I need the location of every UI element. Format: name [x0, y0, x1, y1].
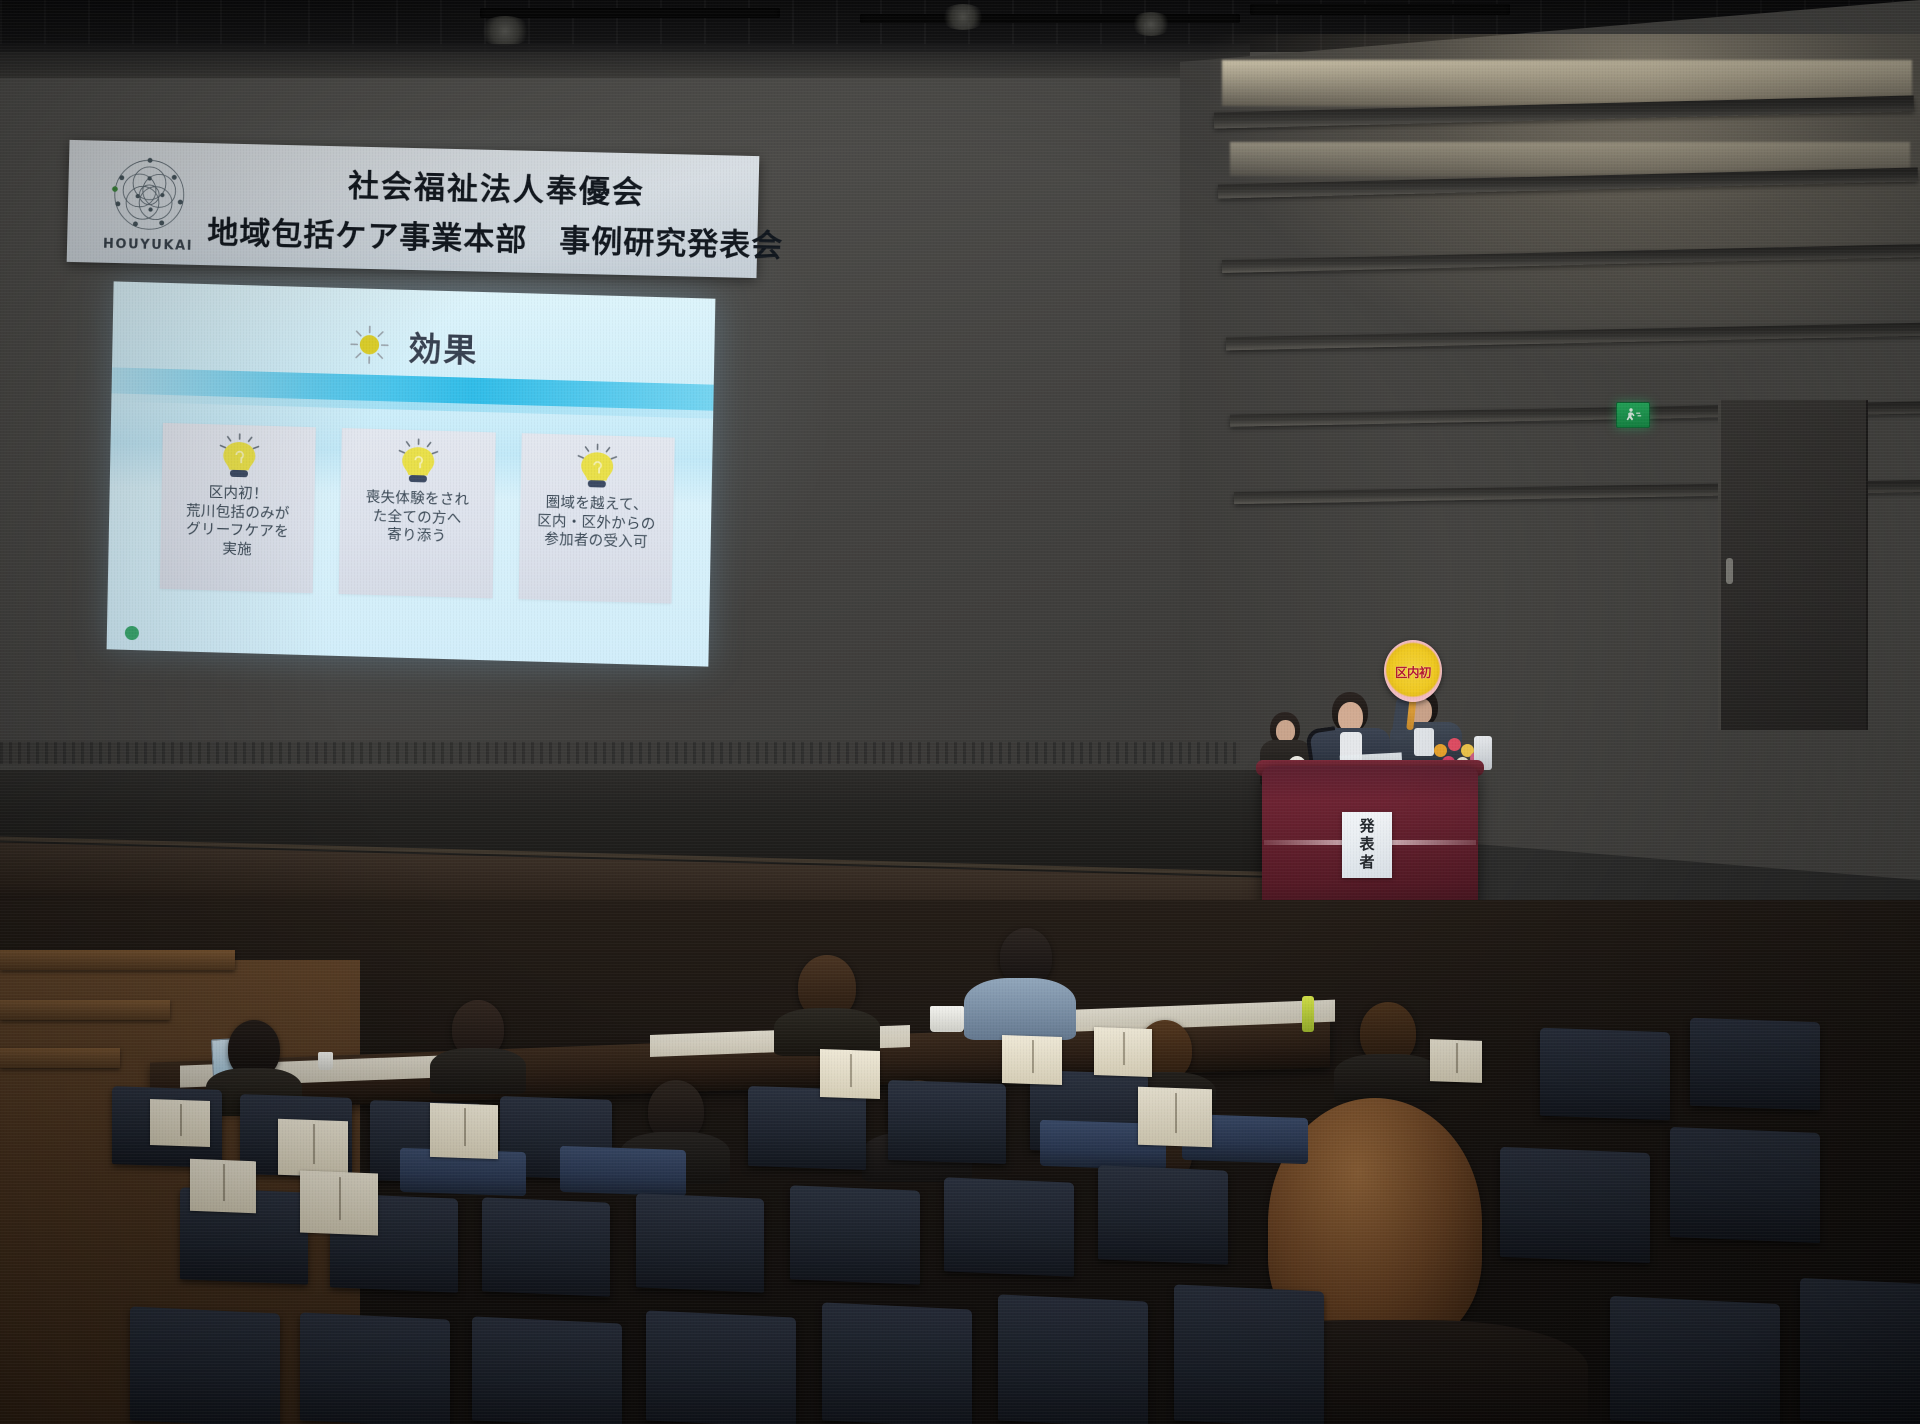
podium-sign: 発表者 [1342, 812, 1392, 878]
attendee-shoulder-4 [964, 978, 1076, 1040]
nameplate-5 [820, 1049, 880, 1099]
seat-row-b-5 [790, 1185, 920, 1284]
slide-card-3: 圏域を越えて、 区内・区外からの 参加者の受入可 [518, 433, 674, 603]
back-wall-upper-band [0, 44, 1250, 78]
seat-right-block-2 [1670, 1127, 1820, 1243]
door-handle[interactable] [1726, 558, 1733, 584]
lightbulb-icon [574, 443, 621, 494]
seat-row-a-9 [1690, 1018, 1820, 1111]
flower-2 [1448, 738, 1461, 751]
fan-sign: 区内初 [1384, 640, 1442, 702]
nameplate-3 [430, 1103, 498, 1159]
stage-wall-vent [0, 742, 1240, 764]
ceiling-light-2 [940, 4, 986, 30]
ceiling-light-1 [478, 16, 532, 46]
banner-text: 社会福祉法人奉優会 地域包括ケア事業本部 事例研究発表会 [207, 157, 795, 266]
drink-bottle-1 [1302, 996, 1314, 1032]
slide-cards: 区内初！ 荒川包括のみが グリーフケアを 実施 [160, 423, 675, 604]
ceiling-slot-1 [480, 8, 780, 18]
slide-corner-marker [125, 626, 139, 640]
podium-sign-label: 発表者 [1357, 818, 1378, 872]
seat-row-a-5 [748, 1086, 866, 1170]
lightbulb-icon [395, 438, 442, 489]
nameplate-2 [300, 1171, 378, 1236]
slide-title-row: 効果 [112, 313, 715, 378]
slide-card-1: 区内初！ 荒川包括のみが グリーフケアを 実施 [160, 423, 316, 593]
seat-row-a-8 [1540, 1028, 1670, 1121]
nameplate-6 [1002, 1035, 1062, 1085]
lightbulb-icon [215, 432, 262, 483]
nameplate-4 [1138, 1087, 1212, 1148]
fan-label: 区内初 [1395, 662, 1431, 681]
slide-card-1-text: 区内初！ 荒川包括のみが グリーフケアを 実施 [185, 484, 290, 561]
stage-step-2 [0, 1000, 170, 1020]
nameplate-7 [1094, 1027, 1152, 1077]
flower-1 [1434, 744, 1447, 757]
attendee-shoulder-2 [430, 1048, 526, 1094]
seat-row-c-3 [472, 1316, 622, 1424]
ceiling-slot-3 [1250, 4, 1510, 15]
seat-row-c-7 [1174, 1284, 1324, 1424]
ceiling-light-3 [1130, 12, 1172, 36]
network-nodes-logo-icon [107, 152, 191, 236]
auditorium-scene: HOUYUKAI 社会福祉法人奉優会 地域包括ケア事業本部 事例研究発表会 [0, 0, 1920, 1424]
seat-right-block-3 [1610, 1296, 1780, 1424]
seat-right-block-1 [1500, 1147, 1650, 1263]
stage-step-3 [0, 1048, 120, 1068]
nameplate-1 [278, 1119, 348, 1177]
podium-group: 区内初 発表者 [1248, 640, 1498, 930]
attendee-shoulder-6 [1334, 1054, 1440, 1102]
ceiling-slot-2 [860, 14, 1240, 23]
nameplate-9 [190, 1159, 256, 1214]
person-left-face [1276, 720, 1295, 742]
exit-sign [1616, 402, 1650, 428]
seat-row-c-5 [822, 1302, 972, 1424]
seat-row-a-6 [888, 1080, 1006, 1164]
seat-row-b-4 [636, 1193, 764, 1292]
running-man-exit-icon [1622, 407, 1644, 423]
projection-screen: 効果 区 [107, 281, 716, 666]
seat-row-b-3 [482, 1197, 610, 1296]
logo-wordmark: HOUYUKAI [103, 236, 194, 253]
event-banner: HOUYUKAI 社会福祉法人奉優会 地域包括ケア事業本部 事例研究発表会 [67, 140, 760, 278]
banner-logo: HOUYUKAI [89, 152, 209, 254]
drink-cup-2 [930, 1006, 964, 1032]
seat-cushion-a-2 [560, 1146, 686, 1196]
sun-icon [348, 323, 391, 366]
slide-card-2: 喪失体験をされ た全ての方へ 寄り添う [339, 428, 495, 598]
seat-right-block-4 [1800, 1278, 1920, 1424]
slide-card-2-text: 喪失体験をされ た全ての方へ 寄り添う [365, 489, 470, 548]
nameplate-8 [150, 1099, 210, 1147]
stage-door[interactable] [1718, 400, 1868, 730]
seat-row-c-6 [998, 1294, 1148, 1424]
slide-card-3-text: 圏域を越えて、 区内・区外からの 参加者の受入可 [537, 494, 656, 553]
seat-row-c-2 [300, 1312, 450, 1424]
stage-step-1 [0, 950, 235, 970]
nameplate-10 [1430, 1039, 1482, 1083]
seat-row-c-1 [130, 1306, 280, 1424]
banner-line-1: 社会福祉法人奉優会 [208, 157, 785, 216]
seat-row-c-4 [646, 1310, 796, 1424]
slide-title: 効果 [408, 322, 479, 372]
seat-row-b-6 [944, 1177, 1074, 1276]
presentation-slide: 効果 区 [107, 281, 716, 666]
drink-cup-1 [318, 1052, 333, 1070]
seat-row-b-7 [1098, 1165, 1228, 1264]
banner-line-2: 地域包括ケア事業本部 事例研究発表会 [207, 207, 784, 266]
